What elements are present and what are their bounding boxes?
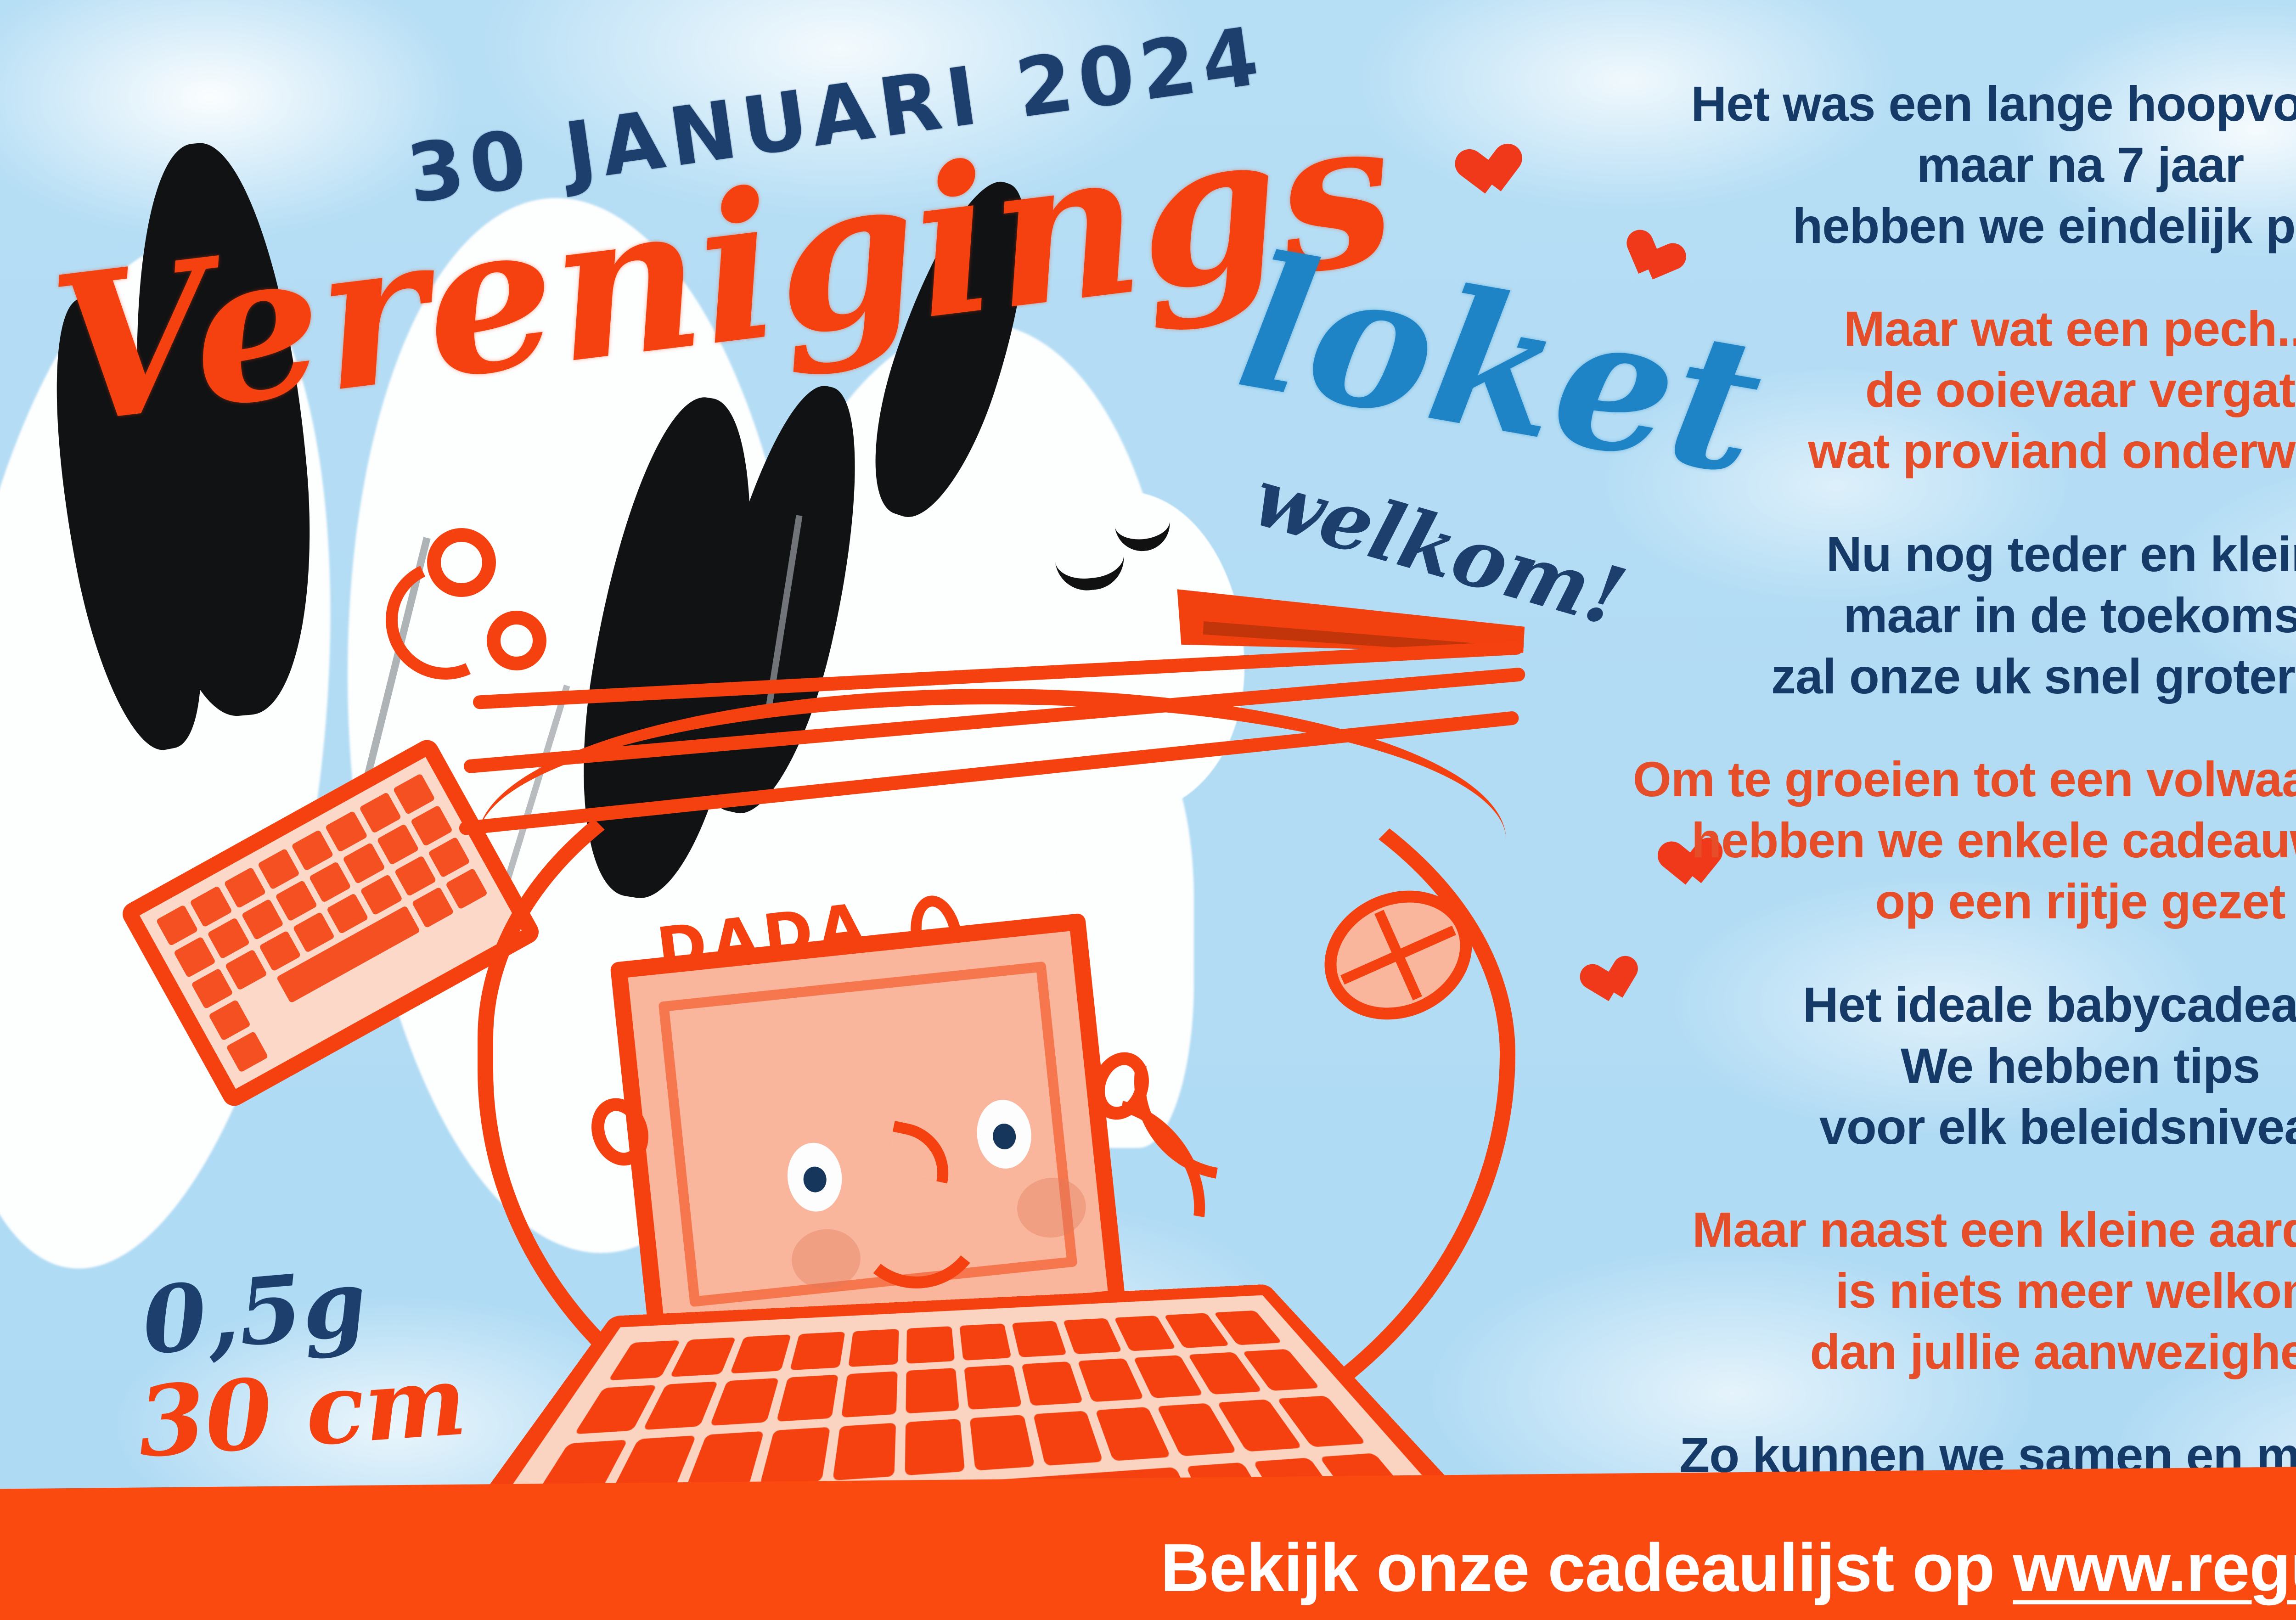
birth-announcement-poster: 30 JANUARI 2024 Verenigings loket welkom… bbox=[0, 0, 2296, 1620]
banner-cta-text: Bekijk onze cadeaulijst op www.regulitis… bbox=[1160, 1529, 2296, 1607]
poem-line: hebben we eindelijk prijs bbox=[1580, 196, 2296, 257]
poem-line: zal onze uk snel groter zijn bbox=[1580, 646, 2296, 707]
poem-stanza: Maar wat een pech...de ooievaar vergatwa… bbox=[1580, 298, 2296, 481]
poem-line: Om te groeien tot een volwaardig loket bbox=[1580, 749, 2296, 810]
poem-line: maar in de toekomst bbox=[1580, 585, 2296, 646]
website-link[interactable]: www.regulitis.be bbox=[2013, 1530, 2296, 1606]
poem-line: wat proviand onderweg bbox=[1580, 421, 2296, 482]
poem-line: voor elk beleidsniveau bbox=[1580, 1097, 2296, 1158]
illustration-area: 30 JANUARI 2024 Verenigings loket welkom… bbox=[0, 0, 1561, 1515]
announcement-poem: Het was een lange hoopvolle reis,maar na… bbox=[1580, 73, 2296, 1589]
poem-line: Het ideale babycadeau? bbox=[1580, 974, 2296, 1035]
poem-stanza: Het ideale babycadeau?We hebben tipsvoor… bbox=[1580, 974, 2296, 1157]
poem-line: dan jullie aanwezigheid bbox=[1580, 1322, 2296, 1383]
poem-line: Nu nog teder en klein, bbox=[1580, 524, 2296, 585]
banner-prefix: Bekijk onze cadeaulijst op bbox=[1160, 1530, 2013, 1606]
poem-line: de ooievaar vergat bbox=[1580, 360, 2296, 421]
poem-line: hebben we enkele cadeauwensen bbox=[1580, 810, 2296, 871]
heart-icon bbox=[1466, 144, 1526, 203]
poem-line: Maar naast een kleine aardigheid, bbox=[1580, 1199, 2296, 1260]
poem-line: is niets meer welkom bbox=[1580, 1260, 2296, 1322]
poem-stanza: Om te groeien tot een volwaardig lokethe… bbox=[1580, 749, 2296, 932]
mouse-scroll-line bbox=[1340, 926, 1456, 984]
poem-stanza: Maar naast een kleine aardigheid,is niet… bbox=[1580, 1199, 2296, 1382]
poem-line: op een rijtje gezet bbox=[1580, 871, 2296, 932]
poem-stanza: Nu nog teder en klein,maar in de toekoms… bbox=[1580, 524, 2296, 707]
poem-line: We hebben tips bbox=[1580, 1035, 2296, 1097]
poem-line: Het was een lange hoopvolle reis, bbox=[1580, 73, 2296, 135]
poem-stanza: Het was een lange hoopvolle reis,maar na… bbox=[1580, 73, 2296, 256]
poem-line: maar na 7 jaar bbox=[1580, 135, 2296, 196]
birth-length: 30 cm bbox=[134, 1343, 470, 1479]
poem-line: Maar wat een pech... bbox=[1580, 298, 2296, 360]
